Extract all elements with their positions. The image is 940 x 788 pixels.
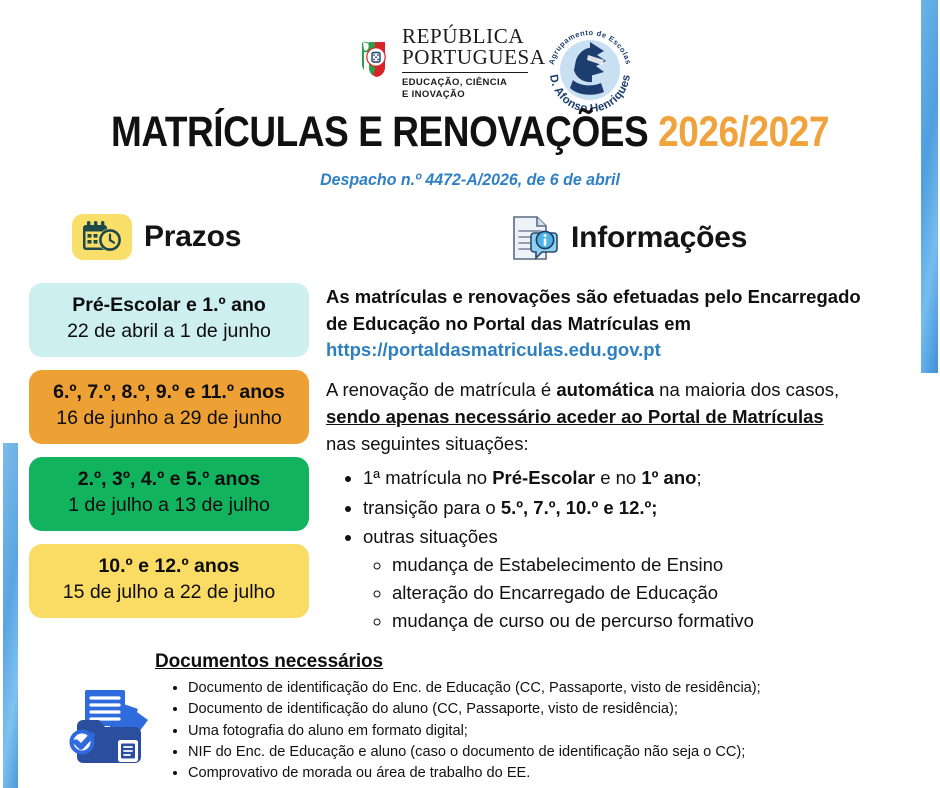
- list-item: outras situações mudança de Estabelecime…: [363, 523, 936, 635]
- decorative-bar-left: [3, 443, 18, 788]
- deadline-grades: 2.º, 3º, 4.º e 5.º anos: [37, 468, 301, 492]
- deadline-box: 10.º e 12.º anos 15 de julho a 22 de jul…: [29, 544, 309, 618]
- bullet-2-pre: outras situações: [363, 526, 498, 547]
- situations-list: 1ª matrícula no Pré-Escolar e no 1º ano;…: [326, 464, 936, 635]
- renewal-line1-c: na maioria dos casos,: [654, 379, 839, 400]
- portal-url-link[interactable]: https://portaldasmatriculas.edu.gov.pt: [326, 339, 661, 360]
- bullet-0-pre: 1ª matrícula no: [363, 467, 492, 488]
- portal-intro-line2: de Educação no Portal das Matrículas em: [326, 313, 691, 334]
- list-item: mudança de Estabelecimento de Ensino: [392, 551, 936, 579]
- republic-logo-line1: REPÚBLICA: [402, 26, 546, 47]
- header-logos: REPÚBLICA PORTUGUESA EDUCAÇÃO, CIÊNCIA E…: [0, 10, 940, 106]
- bullet-0-b2: 1º ano: [641, 467, 696, 488]
- documents-title: Documentos necessários: [155, 651, 855, 673]
- deadline-grades: 10.º e 12.º anos: [37, 555, 301, 579]
- folder-documents-check-icon: [60, 676, 160, 776]
- deadline-grades: Pré-Escolar e 1.º ano: [37, 294, 301, 318]
- deadline-dates: 22 de abril a 1 de junho: [37, 319, 301, 343]
- page-title: MATRÍCULAS E RENOVAÇÕES 2026/2027: [66, 108, 874, 157]
- bullet-1-b1: 5.º, 7.º, 10.º e 12.º;: [501, 497, 658, 518]
- bullet-0-mid: e no: [595, 467, 641, 488]
- calendar-clock-icon: [72, 214, 132, 260]
- deadlines-list: Pré-Escolar e 1.º ano 22 de abril a 1 de…: [29, 283, 309, 631]
- republic-logo-line2: PORTUGUESA: [402, 47, 546, 68]
- renewal-paragraph: A renovação de matrícula é automática na…: [326, 376, 936, 458]
- list-item: Uma fotografia do aluno em formato digit…: [188, 721, 855, 742]
- page-title-year: 2026/2027: [658, 108, 829, 156]
- bullet-1-pre: transição para o: [363, 497, 501, 518]
- republic-logo-divider: [402, 72, 528, 73]
- list-item: Comprovativo de morada ou área de trabal…: [188, 763, 855, 784]
- renewal-bold-automatica: automática: [556, 379, 654, 400]
- bullet-0-b1: Pré-Escolar: [492, 467, 595, 488]
- section-label-informacoes: Informações: [571, 221, 747, 255]
- deadline-grades: 6.º, 7.º, 8.º, 9.º e 11.º anos: [37, 381, 301, 405]
- page-title-text: MATRÍCULAS E RENOVAÇÕES: [111, 108, 648, 156]
- deadline-dates: 16 de junho a 29 de junho: [37, 406, 301, 430]
- renewal-line1-a: A renovação de matrícula é: [326, 379, 556, 400]
- portal-intro-paragraph: As matrículas e renovações são efetuadas…: [326, 284, 936, 364]
- section-label-prazos: Prazos: [144, 220, 241, 254]
- deadline-box: 2.º, 3º, 4.º e 5.º anos 1 de julho a 13 …: [29, 457, 309, 531]
- bullet-0-post: ;: [696, 467, 701, 488]
- list-item: mudança de curso ou de percurso formativ…: [392, 607, 936, 635]
- deadline-box: 6.º, 7.º, 8.º, 9.º e 11.º anos 16 de jun…: [29, 370, 309, 444]
- list-item: 1ª matrícula no Pré-Escolar e no 1º ano;: [363, 464, 936, 492]
- school-logo: Agrupamento de Escolas D. Afonso Henriqu…: [540, 22, 640, 114]
- deadline-box: Pré-Escolar e 1.º ano 22 de abril a 1 de…: [29, 283, 309, 357]
- section-header-prazos: Prazos: [72, 214, 241, 260]
- republica-portuguesa-logo: REPÚBLICA PORTUGUESA EDUCAÇÃO, CIÊNCIA E…: [357, 26, 546, 101]
- renewal-line3: nas seguintes situações:: [326, 433, 529, 454]
- documents-list: Documento de identificação do Enc. de Ed…: [155, 678, 855, 784]
- portal-intro-line1: As matrículas e renovações são efetuadas…: [326, 286, 861, 307]
- list-item: transição para o 5.º, 7.º, 10.º e 12.º;: [363, 494, 936, 522]
- page-subtitle: Despacho n.º 4472-A/2026, de 6 de abril: [28, 170, 912, 190]
- republic-logo-sub2: E INOVAÇÃO: [402, 89, 546, 101]
- situations-sublist: mudança de Estabelecimento de Ensino alt…: [363, 551, 936, 635]
- portugal-shield-icon: [357, 40, 393, 87]
- renewal-line2-underlined: sendo apenas necessário aceder ao Portal…: [326, 406, 824, 427]
- document-info-icon: [505, 212, 561, 264]
- list-item: NIF do Enc. de Educação e aluno (caso o …: [188, 742, 855, 763]
- list-item: alteração do Encarregado de Educação: [392, 579, 936, 607]
- list-item: Documento de identificação do Enc. de Ed…: [188, 678, 855, 699]
- republic-logo-sub1: EDUCAÇÃO, CIÊNCIA: [402, 77, 546, 89]
- poster-canvas: REPÚBLICA PORTUGUESA EDUCAÇÃO, CIÊNCIA E…: [0, 0, 940, 788]
- list-item: Documento de identificação do aluno (CC,…: [188, 699, 855, 720]
- deadline-dates: 15 de julho a 22 de julho: [37, 580, 301, 604]
- information-column: As matrículas e renovações são efetuadas…: [326, 284, 936, 636]
- deadline-dates: 1 de julho a 13 de julho: [37, 493, 301, 517]
- documents-section: Documentos necessários Documento de iden…: [155, 651, 855, 784]
- section-header-informacoes: Informações: [505, 212, 747, 264]
